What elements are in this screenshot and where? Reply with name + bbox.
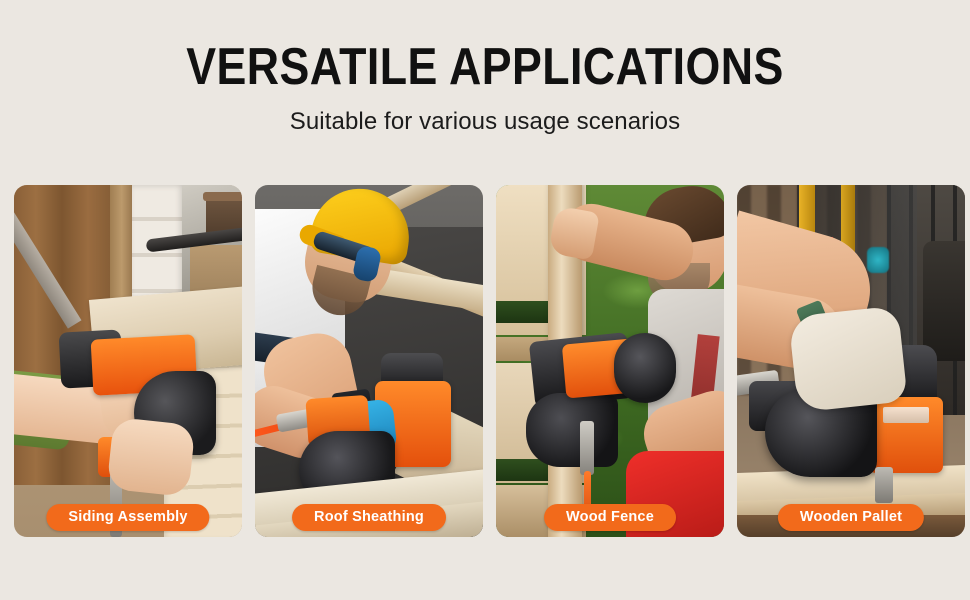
- panel-caption-badge: Wood Fence: [544, 504, 676, 531]
- wooden-pallet-photo: [737, 185, 965, 537]
- versatile-applications-banner: VERSATILE APPLICATIONS Suitable for vari…: [0, 0, 970, 600]
- application-panel-wood-fence[interactable]: Wood Fence: [496, 185, 724, 537]
- roof-sheathing-photo: [255, 185, 483, 537]
- application-panel-siding-assembly[interactable]: Siding Assembly: [14, 185, 242, 537]
- banner-header: VERSATILE APPLICATIONS Suitable for vari…: [0, 0, 970, 136]
- application-panel-roof-sheathing[interactable]: Roof Sheathing: [255, 185, 483, 537]
- siding-assembly-photo: [14, 185, 242, 537]
- application-panel-wooden-pallet[interactable]: Wooden Pallet: [737, 185, 965, 537]
- application-panel-grid: Siding Assembly: [14, 185, 956, 537]
- wood-fence-photo: [496, 185, 724, 537]
- page-subtitle: Suitable for various usage scenarios: [0, 94, 970, 136]
- page-title: VERSATILE APPLICATIONS: [68, 0, 902, 94]
- panel-caption-badge: Siding Assembly: [46, 504, 209, 531]
- panel-caption-badge: Wooden Pallet: [778, 504, 924, 531]
- panel-caption-badge: Roof Sheathing: [292, 504, 446, 531]
